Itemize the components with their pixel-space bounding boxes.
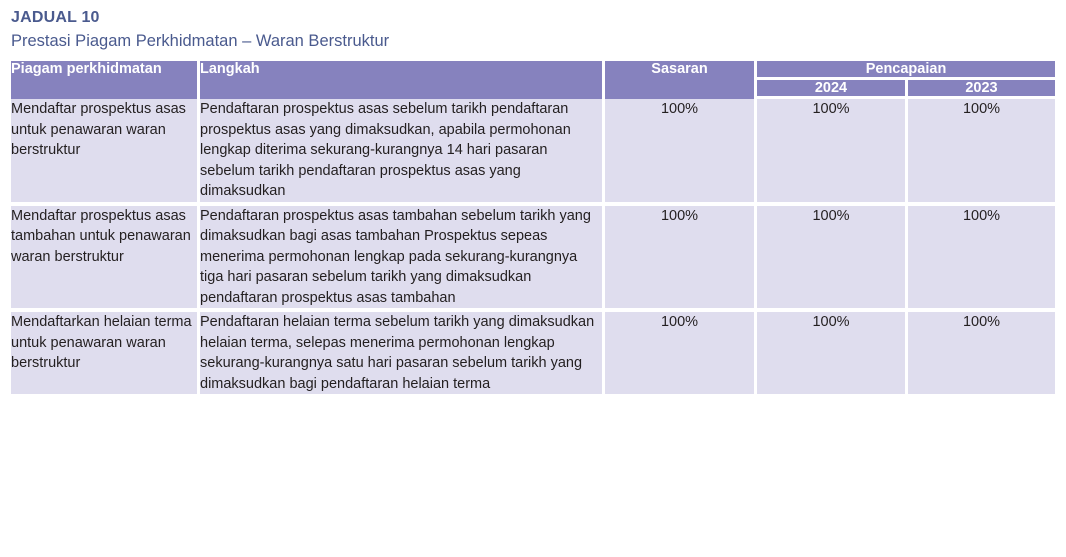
table-row: Mendaftar prospektus asas untuk penawara…	[11, 99, 1055, 206]
table-body: Mendaftar prospektus asas untuk penawara…	[11, 99, 1055, 398]
table-header: Piagam perkhidmatan Langkah Sasaran Penc…	[11, 61, 1055, 99]
column-header-charter: Piagam perkhidmatan	[11, 61, 200, 99]
cell-achievement-2024: 100%	[757, 206, 908, 313]
page-title: Prestasi Piagam Perkhidmatan – Waran Ber…	[11, 30, 1055, 52]
page-root: JADUAL 10 Prestasi Piagam Perkhidmatan –…	[0, 0, 1066, 557]
cell-target: 100%	[605, 312, 757, 398]
table-row: Mendaftar prospektus asas tambahan untuk…	[11, 206, 1055, 313]
column-header-step: Langkah	[200, 61, 605, 99]
table-row: Mendaftarkan helaian terma untuk penawar…	[11, 312, 1055, 398]
cell-achievement-2023: 100%	[908, 99, 1055, 206]
title-block: JADUAL 10 Prestasi Piagam Perkhidmatan –…	[11, 0, 1055, 52]
cell-charter: Mendaftarkan helaian terma untuk penawar…	[11, 312, 200, 398]
table-number: JADUAL 10	[11, 8, 1055, 28]
cell-achievement-2023: 100%	[908, 312, 1055, 398]
cell-achievement-2024: 100%	[757, 99, 908, 206]
cell-target: 100%	[605, 206, 757, 313]
column-header-year-2023: 2023	[908, 80, 1055, 99]
column-header-target: Sasaran	[605, 61, 757, 99]
service-charter-table: Piagam perkhidmatan Langkah Sasaran Penc…	[11, 61, 1055, 398]
cell-step: Pendaftaran helaian terma sebelum tarikh…	[200, 312, 605, 398]
cell-step: Pendaftaran prospektus asas tambahan seb…	[200, 206, 605, 313]
cell-target: 100%	[605, 99, 757, 206]
table-header-row-main: Piagam perkhidmatan Langkah Sasaran Penc…	[11, 61, 1055, 80]
cell-achievement-2023: 100%	[908, 206, 1055, 313]
cell-charter: Mendaftar prospektus asas untuk penawara…	[11, 99, 200, 206]
cell-achievement-2024: 100%	[757, 312, 908, 398]
column-header-year-2024: 2024	[757, 80, 908, 99]
cell-step: Pendaftaran prospektus asas sebelum tari…	[200, 99, 605, 206]
cell-charter: Mendaftar prospektus asas tambahan untuk…	[11, 206, 200, 313]
column-header-achievement-group: Pencapaian	[757, 61, 1055, 80]
